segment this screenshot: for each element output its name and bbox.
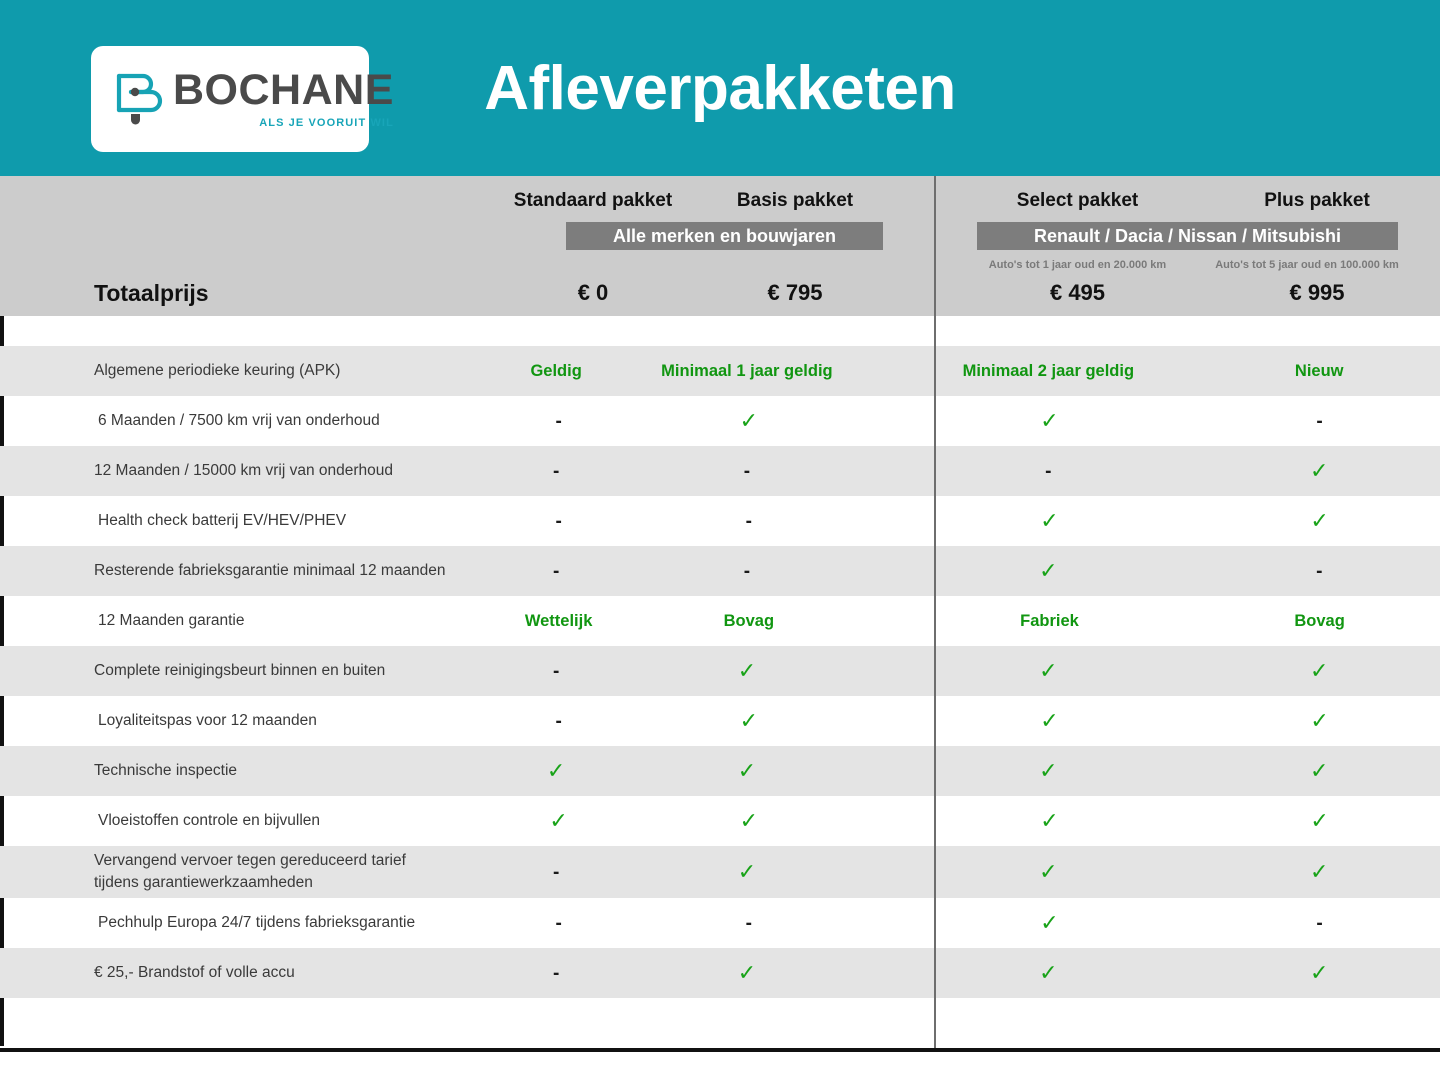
table-cell-standaard: Geldig (484, 346, 629, 396)
feature-label: Health check batterij EV/HEV/PHEV (4, 510, 508, 532)
cell-text: Geldig (530, 362, 581, 381)
table-cell-plus: ✓ (1199, 496, 1440, 546)
dash-icon: - (1316, 412, 1322, 431)
column-title-plus: Plus pakket (1222, 190, 1412, 212)
logo-tagline: ALS JE VOORUIT WIL (259, 117, 394, 129)
comparison-table: Algemene periodieke keuring (APK)GeldigM… (0, 316, 1440, 1046)
feature-label: 12 Maanden / 15000 km vrij van onderhoud (0, 460, 506, 482)
table-cell-standaard: ✓ (486, 796, 631, 846)
dash-icon: - (555, 712, 561, 731)
check-icon: ✓ (1310, 760, 1328, 782)
feature-label: € 25,- Brandstof of volle accu (0, 962, 506, 984)
check-icon: ✓ (1310, 660, 1328, 682)
table-cell-standaard: - (486, 496, 631, 546)
table-row: Health check batterij EV/HEV/PHEV--✓✓ (0, 496, 1440, 546)
table-cell-select: ✓ (910, 496, 1189, 546)
table-cell-standaard: - (484, 646, 629, 696)
check-icon: ✓ (740, 710, 758, 732)
page-header: BOCHANE ALS JE VOORUIT WIL Afleverpakket… (0, 0, 1440, 176)
feature-label-line1: Vervangend vervoer tegen gereduceerd tar… (94, 850, 506, 872)
check-icon: ✓ (738, 660, 756, 682)
check-icon: ✓ (547, 760, 565, 782)
cell-text: Minimaal 2 jaar geldig (963, 362, 1134, 381)
table-cell-basis: ✓ (643, 396, 855, 446)
logo-wordmark: BOCHANE (173, 69, 394, 112)
feature-label-line2: tijdens garantiewerkzaamheden (94, 872, 506, 894)
table-cell-plus: ✓ (1198, 948, 1440, 998)
table-cell-basis: Minimaal 1 jaar geldig (641, 346, 854, 396)
dash-icon: - (553, 562, 559, 581)
check-icon: ✓ (1310, 510, 1328, 532)
check-icon: ✓ (740, 410, 758, 432)
table-cell-plus: ✓ (1199, 696, 1440, 746)
table-cell-standaard: - (486, 898, 631, 948)
check-icon: ✓ (549, 810, 567, 832)
table-row: 12 Maanden garantieWettelijkBovagFabriek… (0, 596, 1440, 646)
check-icon: ✓ (1039, 962, 1057, 984)
check-icon: ✓ (1039, 660, 1057, 682)
check-icon: ✓ (1039, 560, 1057, 582)
feature-label: Algemene periodieke keuring (APK) (0, 360, 506, 382)
price-standaard: € 0 (498, 280, 688, 306)
table-cell-basis: - (643, 898, 855, 948)
table-cell-plus: - (1198, 546, 1440, 596)
table-cell-basis: ✓ (641, 846, 854, 898)
table-cell-plus: ✓ (1198, 846, 1440, 898)
table-cell-standaard: - (484, 446, 629, 496)
vertical-divider (934, 176, 936, 1050)
check-icon: ✓ (1040, 810, 1058, 832)
table-cell-standaard: Wettelijk (486, 596, 631, 646)
table-cell-plus: ✓ (1198, 746, 1440, 796)
table-cell-plus: ✓ (1199, 796, 1440, 846)
check-icon: ✓ (1039, 861, 1057, 883)
dash-icon: - (555, 512, 561, 531)
table-cell-plus: Bovag (1199, 596, 1440, 646)
table-cell-select: Minimaal 2 jaar geldig (908, 346, 1188, 396)
table-cell-basis: - (641, 546, 854, 596)
check-icon: ✓ (738, 962, 756, 984)
table-cell-plus: - (1199, 396, 1440, 446)
check-icon: ✓ (1310, 460, 1328, 482)
dash-icon: - (744, 462, 750, 481)
price-select: € 495 (980, 280, 1175, 306)
table-cell-select: ✓ (908, 646, 1188, 696)
subnote-plus: Auto's tot 5 jaar oud en 100.000 km (1207, 259, 1407, 271)
table-row: € 25,- Brandstof of volle accu-✓✓✓ (0, 948, 1440, 998)
table-cell-select: ✓ (910, 796, 1189, 846)
table-cell-plus: - (1199, 898, 1440, 948)
dash-icon: - (746, 914, 752, 933)
feature-label: Loyaliteitspas voor 12 maanden (4, 710, 508, 732)
feature-label: Pechhulp Europa 24/7 tijdens fabrieksgar… (4, 912, 508, 934)
table-cell-basis: - (643, 496, 855, 546)
table-cell-select: - (908, 446, 1188, 496)
price-basis: € 795 (700, 280, 890, 306)
check-icon: ✓ (1310, 962, 1328, 984)
dash-icon: - (553, 863, 559, 882)
table-cell-basis: ✓ (641, 646, 854, 696)
check-icon: ✓ (1310, 710, 1328, 732)
table-cell-basis: Bovag (643, 596, 855, 646)
feature-label: Vervangend vervoer tegen gereduceerd tar… (0, 850, 506, 895)
feature-label: Vloeistoffen controle en bijvullen (4, 810, 508, 832)
table-cell-basis: ✓ (643, 696, 855, 746)
table-cell-plus: Nieuw (1198, 346, 1440, 396)
afleverpakketten-poster: BOCHANE ALS JE VOORUIT WIL Afleverpakket… (0, 0, 1440, 1080)
price-plus: € 995 (1222, 280, 1412, 306)
table-row: Algemene periodieke keuring (APK)GeldigM… (0, 346, 1440, 396)
column-title-standaard: Standaard pakket (498, 190, 688, 212)
table-spacer-row (0, 316, 1440, 346)
dash-icon: - (744, 562, 750, 581)
feature-label: Technische inspectie (0, 760, 506, 782)
check-icon: ✓ (1310, 861, 1328, 883)
table-cell-select: ✓ (908, 746, 1188, 796)
cell-text: Bovag (724, 612, 774, 631)
check-icon: ✓ (1040, 710, 1058, 732)
table-cell-select: ✓ (910, 396, 1189, 446)
dash-icon: - (746, 512, 752, 531)
bochane-logo: BOCHANE ALS JE VOORUIT WIL (91, 46, 369, 152)
table-footer-spacer (0, 998, 1440, 1046)
column-header-band: Standaard pakket Basis pakket Select pak… (0, 176, 1440, 316)
cell-text: Nieuw (1295, 362, 1344, 381)
table-row: Complete reinigingsbeurt binnen en buite… (0, 646, 1440, 696)
check-icon: ✓ (738, 861, 756, 883)
dash-icon: - (555, 412, 561, 431)
table-cell-standaard: - (486, 396, 631, 446)
check-icon: ✓ (1039, 760, 1057, 782)
table-cell-standaard: - (484, 846, 629, 898)
table-cell-select: ✓ (910, 696, 1189, 746)
dash-icon: - (1316, 562, 1322, 581)
check-icon: ✓ (738, 760, 756, 782)
check-icon: ✓ (1040, 410, 1058, 432)
ribbon-brands-right: Renault / Dacia / Nissan / Mitsubishi (977, 222, 1398, 250)
logo-text-block: BOCHANE ALS JE VOORUIT WIL (173, 69, 394, 129)
cell-text: Wettelijk (525, 612, 593, 631)
table-cell-basis: ✓ (643, 796, 855, 846)
totaalprijs-label: Totaalprijs (94, 280, 209, 307)
table-row: Resterende fabrieksgarantie minimaal 12 … (0, 546, 1440, 596)
dash-icon: - (553, 964, 559, 983)
bochane-plug-b-icon (109, 68, 165, 130)
feature-label: Resterende fabrieksgarantie minimaal 12 … (0, 560, 506, 582)
check-icon: ✓ (740, 810, 758, 832)
table-cell-standaard: - (486, 696, 631, 746)
table-cell-plus: ✓ (1198, 646, 1440, 696)
cell-text: Fabriek (1020, 612, 1079, 631)
table-cell-plus: ✓ (1198, 446, 1440, 496)
column-title-basis: Basis pakket (700, 190, 890, 212)
dash-icon: - (1045, 462, 1051, 481)
table-cell-standaard: - (484, 948, 629, 998)
table-cell-basis: ✓ (641, 746, 854, 796)
cell-text: Minimaal 1 jaar geldig (661, 362, 832, 381)
table-cell-select: ✓ (908, 948, 1188, 998)
table-cell-standaard: - (484, 546, 629, 596)
cell-text: Bovag (1294, 612, 1344, 631)
ribbon-all-brands: Alle merken en bouwjaren (566, 222, 883, 250)
feature-label: 12 Maanden garantie (4, 610, 508, 632)
column-title-select: Select pakket (980, 190, 1175, 212)
table-cell-select: Fabriek (910, 596, 1189, 646)
table-row: Pechhulp Europa 24/7 tijdens fabrieksgar… (0, 898, 1440, 948)
table-row: Vervangend vervoer tegen gereduceerd tar… (0, 846, 1440, 898)
table-cell-basis: ✓ (641, 948, 854, 998)
table-cell-basis: - (641, 446, 854, 496)
dash-icon: - (555, 914, 561, 933)
subnote-select: Auto's tot 1 jaar oud en 20.000 km (980, 259, 1175, 271)
table-cell-select: ✓ (908, 846, 1188, 898)
feature-label: 6 Maanden / 7500 km vrij van onderhoud (4, 410, 508, 432)
check-icon: ✓ (1040, 510, 1058, 532)
bottom-border (0, 1048, 1440, 1052)
table-row: Loyaliteitspas voor 12 maanden-✓✓✓ (0, 696, 1440, 746)
check-icon: ✓ (1040, 912, 1058, 934)
table-cell-select: ✓ (908, 546, 1188, 596)
table-row: 12 Maanden / 15000 km vrij van onderhoud… (0, 446, 1440, 496)
check-icon: ✓ (1310, 810, 1328, 832)
feature-label: Complete reinigingsbeurt binnen en buite… (0, 660, 506, 682)
table-cell-standaard: ✓ (484, 746, 629, 796)
dash-icon: - (553, 662, 559, 681)
dash-icon: - (553, 462, 559, 481)
table-cell-select: ✓ (910, 898, 1189, 948)
table-row: Technische inspectie✓✓✓✓ (0, 746, 1440, 796)
table-row: 6 Maanden / 7500 km vrij van onderhoud-✓… (0, 396, 1440, 446)
table-row: Vloeistoffen controle en bijvullen✓✓✓✓ (0, 796, 1440, 846)
dash-icon: - (1316, 914, 1322, 933)
